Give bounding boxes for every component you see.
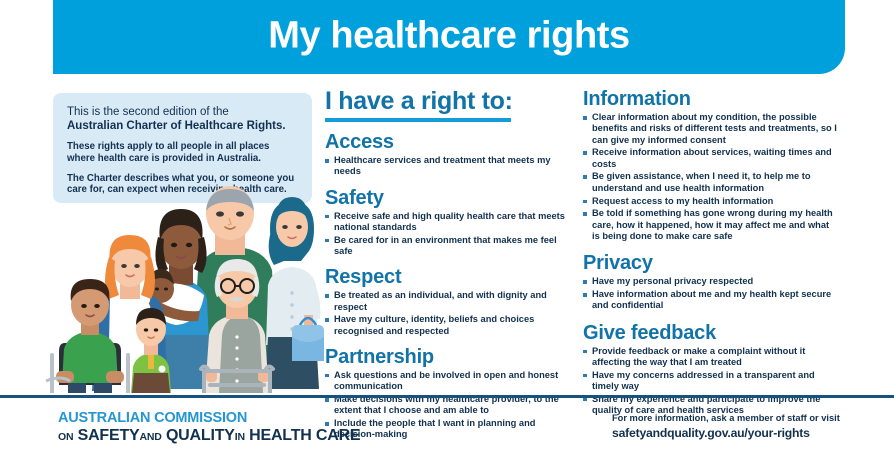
rights-list-item: Have my culture, identity, beliefs and c… bbox=[325, 314, 573, 337]
footer-divider bbox=[0, 395, 894, 398]
right-section-list: Provide feedback or make a complaint wit… bbox=[583, 346, 838, 417]
right-section: PrivacyHave my personal privacy respecte… bbox=[583, 252, 838, 311]
middle-section-title: Respect bbox=[325, 266, 573, 288]
middle-section: AccessHealthcare services and treatment … bbox=[325, 131, 573, 178]
right-section-title: Information bbox=[583, 88, 838, 110]
middle-section-title: Access bbox=[325, 131, 573, 153]
commission-logo: AUSTRALIAN COMMISSION ON SAFETYAND QUALI… bbox=[58, 411, 360, 444]
rights-list-item: Request access to my health information bbox=[583, 196, 838, 207]
middle-section: PartnershipAsk questions and be involved… bbox=[325, 346, 573, 441]
middle-section-list: Receive safe and high quality health car… bbox=[325, 211, 573, 258]
right-sections: InformationClear information about my co… bbox=[583, 88, 838, 416]
right-section-title: Privacy bbox=[583, 252, 838, 274]
intro-lead-line2: Australian Charter of Healthcare Rights. bbox=[67, 119, 298, 133]
right-section-list: Clear information about my condition, th… bbox=[583, 112, 838, 242]
logo-word-and: AND bbox=[140, 431, 162, 443]
rights-list-item: Be given assistance, when I need it, to … bbox=[583, 171, 838, 194]
rights-list-item: Have my personal privacy respected bbox=[583, 276, 838, 287]
rights-heading: I have a right to: bbox=[325, 88, 573, 115]
right-section-title: Give feedback bbox=[583, 322, 838, 344]
logo-line-1: AUSTRALIAN COMMISSION bbox=[58, 411, 360, 426]
footer-info: For more information, ask a member of st… bbox=[612, 414, 840, 440]
logo-word-in: IN bbox=[235, 431, 245, 443]
rights-list-item: Receive safe and high quality health car… bbox=[325, 211, 573, 234]
footer-note: For more information, ask a member of st… bbox=[612, 414, 840, 423]
rights-list-item: Be treated as an individual, and with di… bbox=[325, 290, 573, 313]
rights-list-item: Provide feedback or make a complaint wit… bbox=[583, 346, 838, 369]
header-banner: My healthcare rights bbox=[53, 0, 845, 74]
middle-section-list: Be treated as an individual, and with di… bbox=[325, 290, 573, 337]
logo-word-healthcare: HEALTH CARE bbox=[249, 427, 360, 444]
rights-column-right: InformationClear information about my co… bbox=[583, 88, 838, 418]
intro-lead: This is the second edition of the Austra… bbox=[67, 105, 298, 133]
people-illustration bbox=[30, 185, 330, 393]
rights-list-item: Clear information about my condition, th… bbox=[583, 112, 838, 146]
logo-word-on: ON bbox=[58, 431, 73, 443]
rights-column-middle: I have a right to: AccessHealthcare serv… bbox=[325, 88, 573, 442]
middle-section-title: Safety bbox=[325, 187, 573, 209]
rights-list-item: Have my concerns addressed in a transpar… bbox=[583, 370, 838, 393]
poster-root: My healthcare rights This is the second … bbox=[0, 0, 894, 461]
logo-line-2: ON SAFETYAND QUALITYIN HEALTH CARE bbox=[58, 428, 360, 444]
middle-section: RespectBe treated as an individual, and … bbox=[325, 266, 573, 337]
rights-list-item: Be told if something has gone wrong duri… bbox=[583, 208, 838, 242]
page-title: My healthcare rights bbox=[53, 15, 845, 58]
middle-section: SafetyReceive safe and high quality heal… bbox=[325, 187, 573, 258]
person-hijab-woman bbox=[265, 197, 324, 389]
middle-section-list: Healthcare services and treatment that m… bbox=[325, 155, 573, 178]
right-section: InformationClear information about my co… bbox=[583, 88, 838, 242]
logo-word-quality: QUALITY bbox=[166, 427, 235, 444]
rights-list-item: Healthcare services and treatment that m… bbox=[325, 155, 573, 178]
heading-underline bbox=[325, 118, 511, 122]
rights-list-item: Include the people that I want in planni… bbox=[325, 418, 573, 441]
logo-word-safety: SAFETY bbox=[78, 427, 140, 444]
intro-paragraph-1: These rights apply to all people in all … bbox=[67, 141, 298, 165]
right-section-list: Have my personal privacy respectedHave i… bbox=[583, 276, 838, 311]
right-section: Give feedbackProvide feedback or make a … bbox=[583, 322, 838, 417]
intro-lead-line1: This is the second edition of the bbox=[67, 106, 229, 118]
rights-list-item: Have information about me and my health … bbox=[583, 289, 838, 312]
footer-url-link[interactable]: safetyandquality.gov.au/your-rights bbox=[612, 427, 840, 439]
rights-list-item: Ask questions and be involved in open an… bbox=[325, 370, 573, 393]
rights-list-item: Be cared for in an environment that make… bbox=[325, 235, 573, 258]
rights-list-item: Receive information about services, wait… bbox=[583, 147, 838, 170]
middle-section-list: Ask questions and be involved in open an… bbox=[325, 370, 573, 441]
middle-section-title: Partnership bbox=[325, 346, 573, 368]
